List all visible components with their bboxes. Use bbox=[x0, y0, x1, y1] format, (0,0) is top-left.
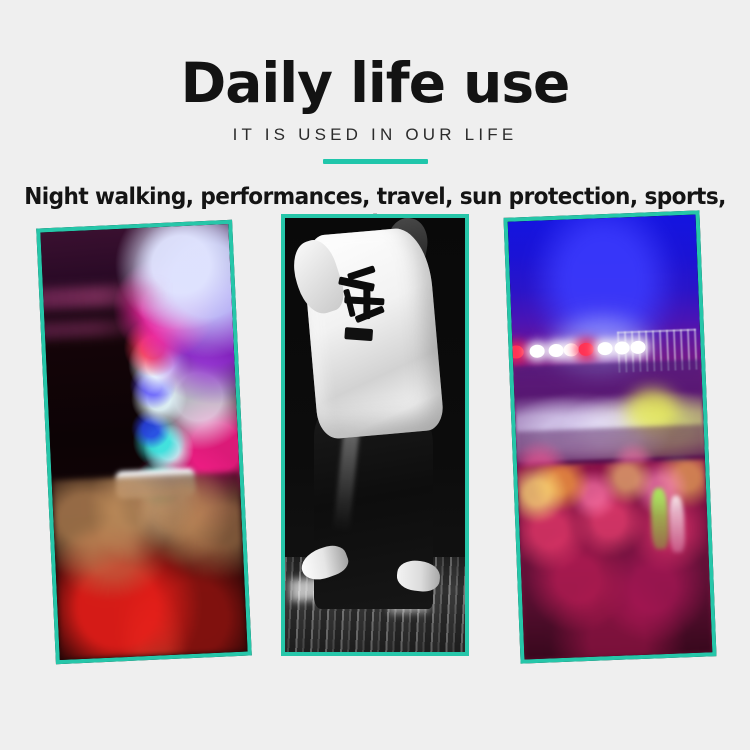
street-dancer-image bbox=[285, 218, 465, 652]
crowd-figure-green bbox=[650, 487, 669, 549]
photo-gallery bbox=[0, 198, 750, 698]
promo-banner: Daily life use IT IS USED IN OUR LIFE Ni… bbox=[0, 0, 750, 750]
photo-card-festival-crowd bbox=[504, 210, 717, 663]
festival-crowd-image bbox=[508, 215, 713, 660]
photo-card-street-dancer bbox=[281, 214, 469, 656]
photo-card-night-concert bbox=[36, 220, 252, 664]
light-streak-secondary bbox=[40, 317, 154, 339]
page-subtitle: IT IS USED IN OUR LIFE bbox=[0, 113, 750, 145]
shirt-graphic-label bbox=[345, 327, 373, 340]
shirt-graphic bbox=[335, 263, 401, 351]
divider-container bbox=[0, 145, 750, 164]
concert-crowd bbox=[52, 472, 248, 660]
light-streak bbox=[40, 282, 167, 310]
night-concert-image bbox=[40, 224, 247, 660]
page-title: Daily life use bbox=[0, 0, 750, 113]
festival-crowd bbox=[517, 460, 712, 660]
